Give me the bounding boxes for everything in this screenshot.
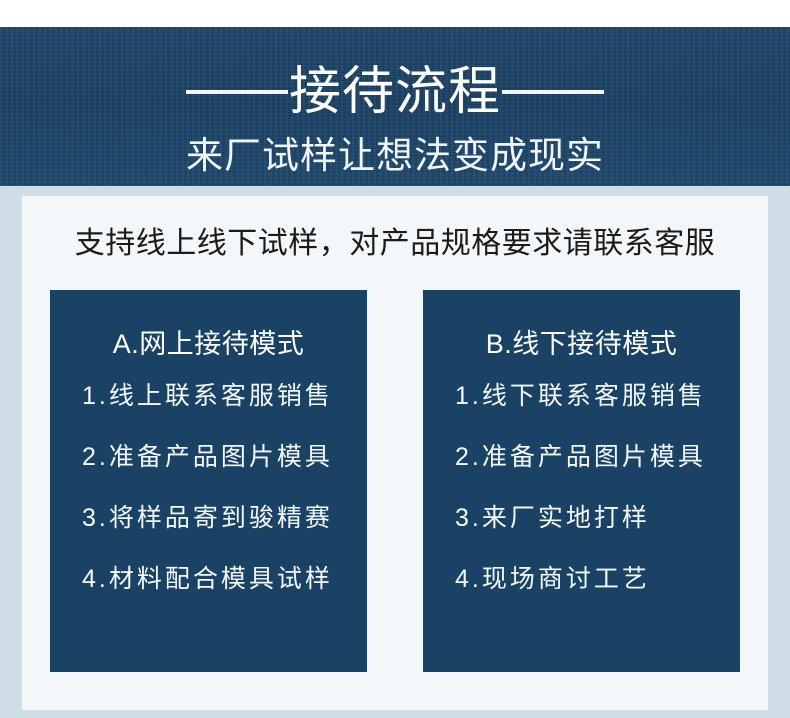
mode-card-offline-title: B.线下接待模式 [423, 290, 740, 362]
mode-card-offline-list: 1.线下联系客服销售 2.准备产品图片模具 3.来厂实地打样 4.现场商讨工艺 [423, 362, 740, 595]
title-rule-right-icon [502, 90, 604, 94]
list-item: 2.准备产品图片模具 [455, 441, 740, 473]
list-item: 3.来厂实地打样 [455, 502, 740, 534]
list-item: 2.准备产品图片模具 [82, 441, 367, 473]
mode-card-online-title: A.网上接待模式 [50, 290, 367, 362]
content-panel: 支持线上线下试样，对产品规格要求请联系客服 A.网上接待模式 1.线上联系客服销… [22, 196, 768, 710]
content-frame: 支持线上线下试样，对产品规格要求请联系客服 A.网上接待模式 1.线上联系客服销… [0, 186, 790, 718]
list-item: 3.将样品寄到骏精赛 [82, 502, 367, 534]
header-banner: 接待流程 来厂试样让想法变成现实 [0, 27, 790, 186]
banner-title: 接待流程 [288, 61, 502, 123]
mode-card-online-list: 1.线上联系客服销售 2.准备产品图片模具 3.将样品寄到骏精赛 4.材料配合模… [50, 362, 367, 595]
list-item: 1.线下联系客服销售 [455, 380, 740, 412]
promo-page: 接待流程 来厂试样让想法变成现实 支持线上线下试样，对产品规格要求请联系客服 A… [0, 0, 790, 718]
list-item: 4.材料配合模具试样 [82, 563, 367, 595]
list-item: 1.线上联系客服销售 [82, 380, 367, 412]
panel-heading: 支持线上线下试样，对产品规格要求请联系客服 [22, 223, 768, 265]
title-rule-left-icon [186, 90, 288, 94]
banner-title-row: 接待流程 [0, 61, 790, 123]
mode-card-online: A.网上接待模式 1.线上联系客服销售 2.准备产品图片模具 3.将样品寄到骏精… [50, 290, 367, 672]
banner-subtitle: 来厂试样让想法变成现实 [0, 133, 790, 179]
mode-card-offline: B.线下接待模式 1.线下联系客服销售 2.准备产品图片模具 3.来厂实地打样 … [423, 290, 740, 672]
mode-card-group: A.网上接待模式 1.线上联系客服销售 2.准备产品图片模具 3.将样品寄到骏精… [50, 290, 740, 672]
list-item: 4.现场商讨工艺 [455, 563, 740, 595]
